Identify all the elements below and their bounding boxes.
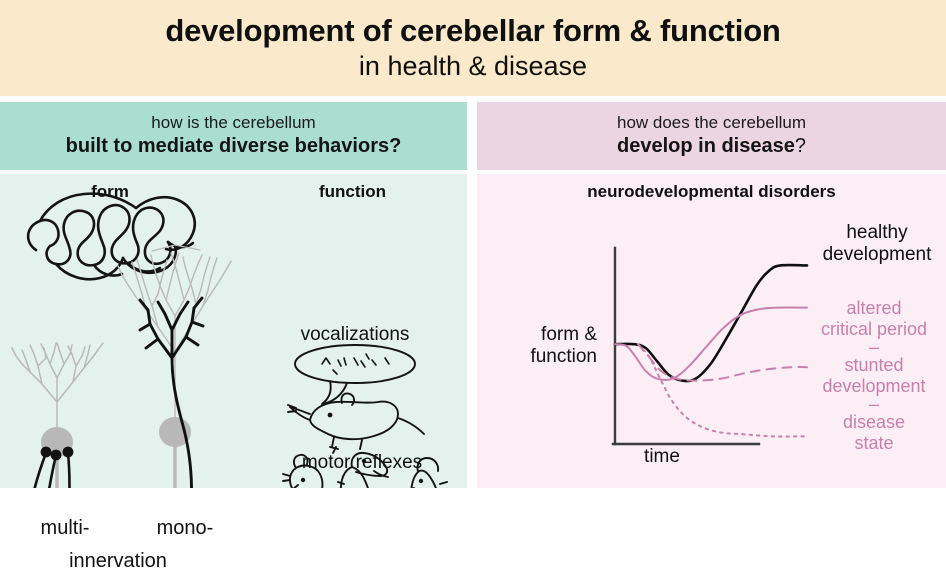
series-disease-state <box>638 344 807 436</box>
chart-axes <box>613 248 759 444</box>
legend-healthy-development: healthydevelopment <box>807 222 946 267</box>
figure-root: development of cerebellar form & functio… <box>0 0 946 488</box>
series-stunted-development <box>638 344 807 380</box>
caption-innervation: innervation <box>18 550 218 573</box>
caption-multi-innervation: multi- <box>10 517 120 540</box>
figure-title-band: development of cerebellar form & functio… <box>0 0 946 96</box>
series-healthy-development <box>615 265 807 381</box>
x-axis-label: time <box>607 446 717 468</box>
left-question-line-1: how is the cerebellum <box>151 113 315 133</box>
development-trajectory-chart: form &function time healthydevelopment a… <box>477 102 946 488</box>
legend-disease-trajectories: alteredcritical period–stunteddevelopmen… <box>802 298 946 454</box>
series-altered-critical-period <box>615 308 807 380</box>
caption-motor-reflexes: motor reflexes <box>272 452 452 474</box>
caption-mono-innervation: mono- <box>125 517 245 540</box>
page-title: development of cerebellar form & functio… <box>165 14 780 49</box>
column-heading-function: function <box>285 182 420 202</box>
column-heading-form: form <box>60 182 160 202</box>
left-panel-header: how is the cerebellum built to mediate d… <box>0 102 467 170</box>
caption-vocalizations: vocalizations <box>275 324 435 346</box>
y-axis-label: form &function <box>487 324 597 368</box>
left-question-line-2: built to mediate diverse behaviors? <box>66 134 402 159</box>
chart-series-group <box>615 265 807 436</box>
page-subtitle: in health & disease <box>359 51 587 82</box>
panel-form-function: how is the cerebellum built to mediate d… <box>0 102 467 488</box>
